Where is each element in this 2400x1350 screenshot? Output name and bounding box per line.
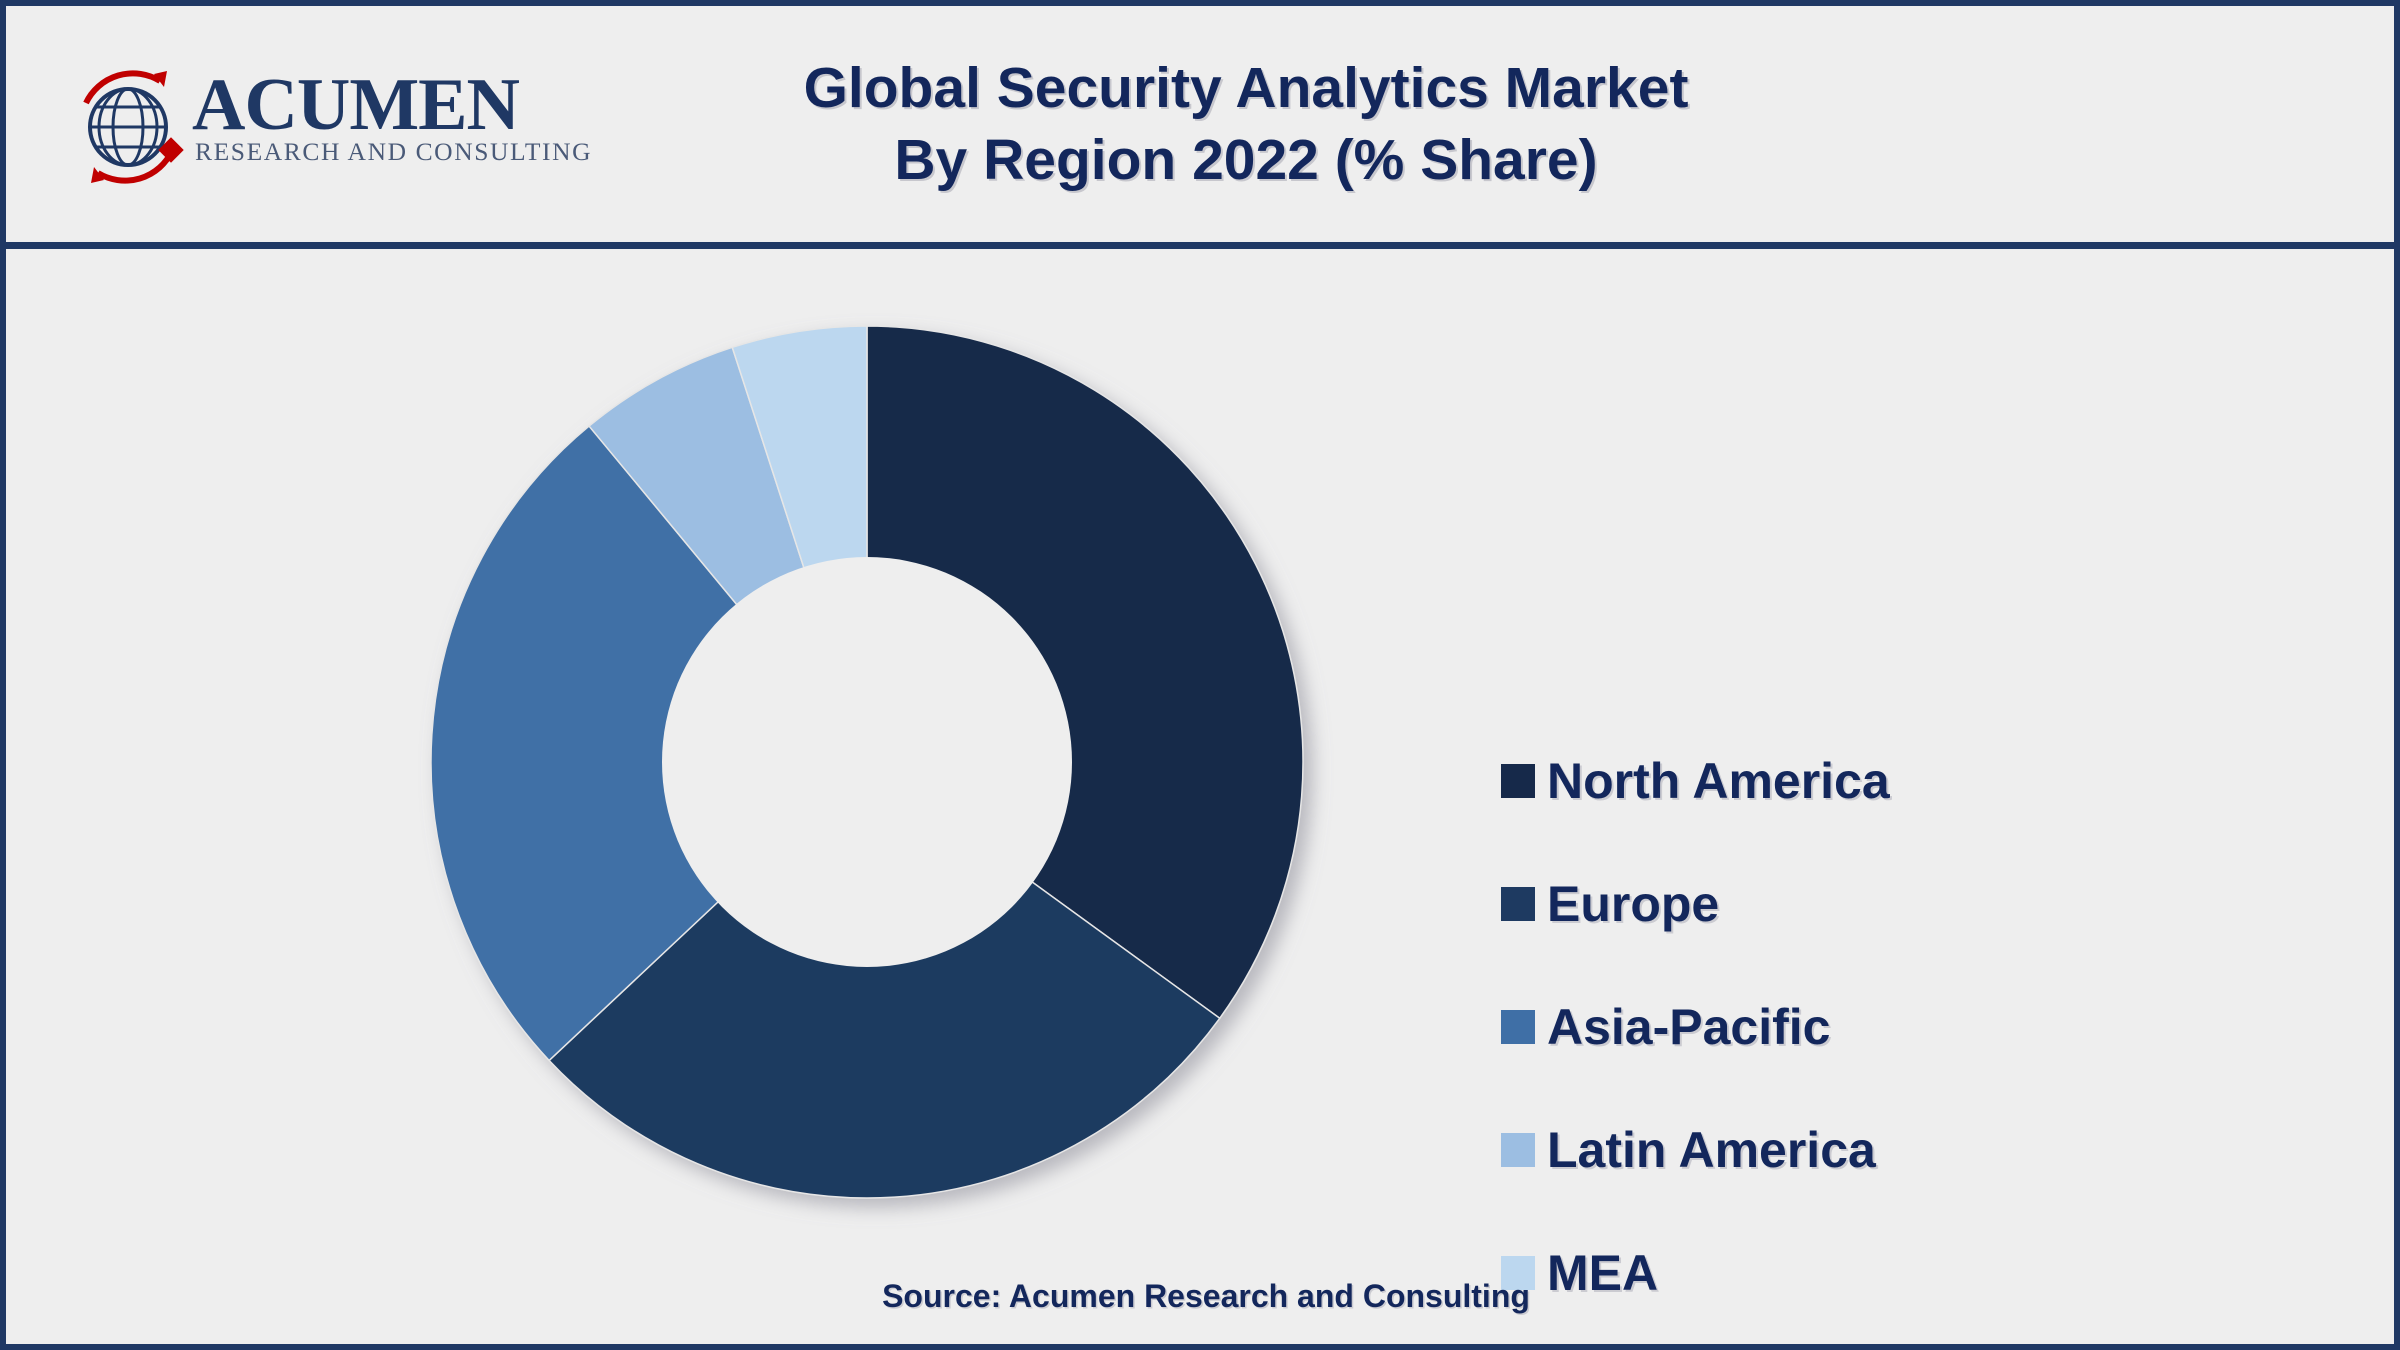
legend-swatch-icon [1501,1133,1535,1167]
legend-swatch-icon [1501,887,1535,921]
diamond-icon [154,133,188,167]
legend-label: North America [1547,752,1890,810]
acumen-logo: ACUMEN RESEARCH AND CONSULTING [68,61,508,191]
title-line-2: By Region 2022 (% Share) [606,124,1886,196]
infographic-page: ACUMEN RESEARCH AND CONSULTING Global Se… [0,0,2400,1350]
chart-area: North America Europe Asia-Pacific Latin … [6,249,2394,1349]
logo-wordmark: ACUMEN RESEARCH AND CONSULTING [192,67,512,167]
legend-item-north-america[interactable]: North America [1501,719,2201,842]
legend-item-mea[interactable]: MEA [1501,1211,2201,1334]
chart-legend: North America Europe Asia-Pacific Latin … [1501,719,2201,1334]
header-bar: ACUMEN RESEARCH AND CONSULTING Global Se… [6,6,2394,249]
chart-title: Global Security Analytics Market By Regi… [606,52,1886,196]
legend-label: Latin America [1547,1121,1876,1179]
logo-tagline: RESEARCH AND CONSULTING [195,137,512,167]
legend-label: Europe [1547,875,1719,933]
legend-swatch-icon [1501,1010,1535,1044]
legend-item-europe[interactable]: Europe [1501,842,2201,965]
donut-chart [431,326,1303,1198]
legend-item-latin-america[interactable]: Latin America [1501,1088,2201,1211]
source-caption: Source: Acumen Research and Consulting [6,1278,2400,1315]
globe-icon [68,65,192,189]
title-line-1: Global Security Analytics Market [606,52,1886,124]
legend-item-asia-pacific[interactable]: Asia-Pacific [1501,965,2201,1088]
legend-swatch-icon [1501,764,1535,798]
logo-word: ACUMEN [192,67,512,143]
legend-label: Asia-Pacific [1547,998,1830,1056]
